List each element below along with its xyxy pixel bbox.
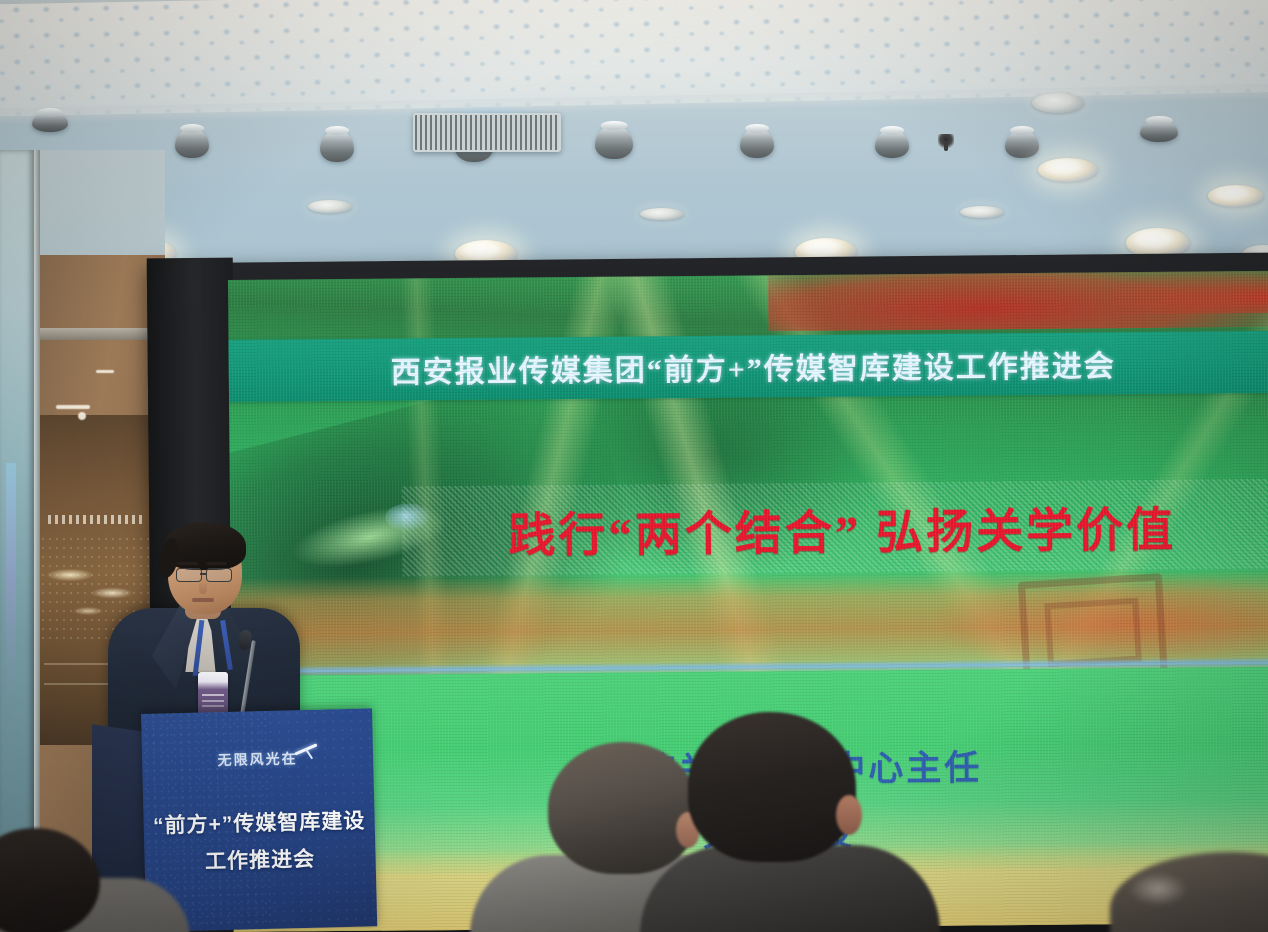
ceiling-spotlight [595, 125, 633, 159]
podium-title-line-2: 工作推进会 [144, 841, 376, 877]
glass-partition [0, 150, 34, 932]
smoke-detector [938, 134, 954, 150]
ceiling-downlight [640, 208, 684, 220]
audience-member-highlight [1128, 872, 1188, 906]
audience-member-head [548, 742, 698, 874]
arrow-icon [294, 739, 321, 762]
screen-title-text: 践行“两个结合” 弘扬关学价值 [508, 490, 1176, 565]
speaker-eyebrow-right [206, 562, 227, 565]
left-wall-upper [34, 150, 165, 255]
glasses-lens-right [206, 568, 232, 582]
ceiling-spotlight [1140, 120, 1178, 142]
audience-member-head [688, 712, 856, 862]
name-badge [198, 672, 228, 716]
ceiling-spotlight [320, 130, 354, 162]
audience-member-ear [836, 795, 862, 835]
speaker-eyebrow-left [177, 562, 198, 565]
ceiling-spotlight [740, 128, 774, 158]
ceiling-spotlight [875, 130, 909, 158]
hvac-vent [413, 113, 561, 152]
screen-header-banner: 西安报业传媒集团“前方+”传媒智库建设工作推进会 [228, 331, 1268, 402]
screen-title-banner: 践行“两个结合” 弘扬关学价值 [402, 479, 1268, 577]
podium: 无限风光在 “前方+”传媒智库建设 工作推进会 [141, 708, 377, 932]
window-mullion [34, 150, 40, 932]
wall-light-strip [96, 370, 114, 373]
ceiling-downlight [1208, 185, 1264, 207]
red-foliage [1108, 271, 1268, 314]
screen-header-text: 西安报业传媒集团“前方+”传媒智库建设工作推进会 [391, 341, 1116, 391]
ceiling-downlight [960, 206, 1004, 218]
ceiling-spotlight [1005, 130, 1039, 158]
ceiling-downlight [1032, 93, 1084, 113]
wall-light-strip [56, 405, 90, 409]
glasses-bridge [200, 573, 207, 575]
speaker-nose [199, 580, 207, 594]
artwork-caption [48, 515, 144, 524]
ceiling-downlight [308, 200, 352, 213]
photo-scene: 西安报业传媒集团“前方+”传媒智库建设工作推进会 践行“两个结合” 弘扬关学价值… [0, 0, 1268, 932]
ceiling-spotlight [175, 128, 209, 158]
wall-light-strip [78, 412, 86, 420]
ceiling-downlight [1038, 158, 1098, 182]
speaker-mouth [192, 598, 214, 602]
podium-title-line-1: “前方+”传媒智库建设 [143, 804, 375, 840]
left-wall-beam [34, 328, 165, 340]
ceiling-spotlight [32, 112, 68, 132]
